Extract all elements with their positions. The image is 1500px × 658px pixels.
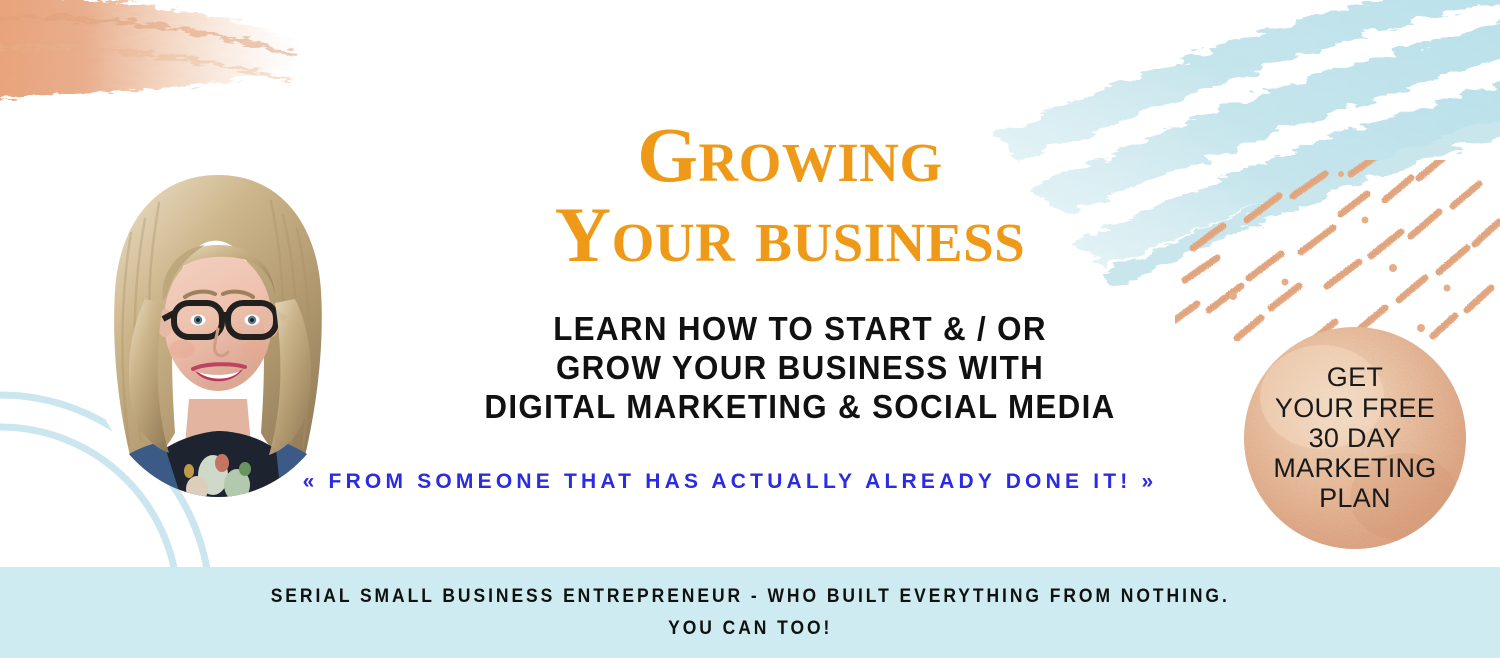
badge-line-5: PLAN — [1273, 483, 1436, 513]
bottom-bar-line-1: SERIAL SMALL BUSINESS ENTREPRENEUR - WHO… — [270, 581, 1229, 612]
headline-line-1: Growing — [360, 118, 1220, 192]
badge-line-1: GET — [1273, 362, 1436, 392]
badge-text: GET YOUR FREE 30 DAY MARKETING PLAN — [1273, 362, 1436, 513]
headline-line-2: Your business — [360, 198, 1220, 272]
bottom-bar-line-2: YOU CAN TOO! — [668, 613, 832, 644]
marketing-banner: Growing Your business LEARN HOW TO START… — [0, 0, 1500, 658]
portrait-photo-icon — [85, 163, 351, 497]
tagline: « FROM SOMEONE THAT HAS ACTUALLY ALREADY… — [200, 470, 1260, 494]
subheading-line-2: GROW YOUR BUSINESS WITH — [354, 349, 1247, 388]
subheading-line-1: LEARN HOW TO START & / OR — [354, 310, 1247, 349]
bottom-bar: SERIAL SMALL BUSINESS ENTREPRENEUR - WHO… — [0, 567, 1500, 658]
page-title: Growing Your business — [360, 118, 1220, 272]
avatar — [85, 163, 351, 497]
free-plan-badge[interactable]: GET YOUR FREE 30 DAY MARKETING PLAN — [1244, 327, 1466, 549]
subheading-line-3: DIGITAL MARKETING & SOCIAL MEDIA — [354, 388, 1247, 427]
badge-line-2: YOUR FREE — [1273, 393, 1436, 423]
copper-brush-stroke-icon — [0, 0, 300, 120]
badge-line-3: 30 DAY — [1273, 423, 1436, 453]
subheading: LEARN HOW TO START & / OR GROW YOUR BUSI… — [354, 310, 1247, 427]
badge-line-4: MARKETING — [1273, 453, 1436, 483]
